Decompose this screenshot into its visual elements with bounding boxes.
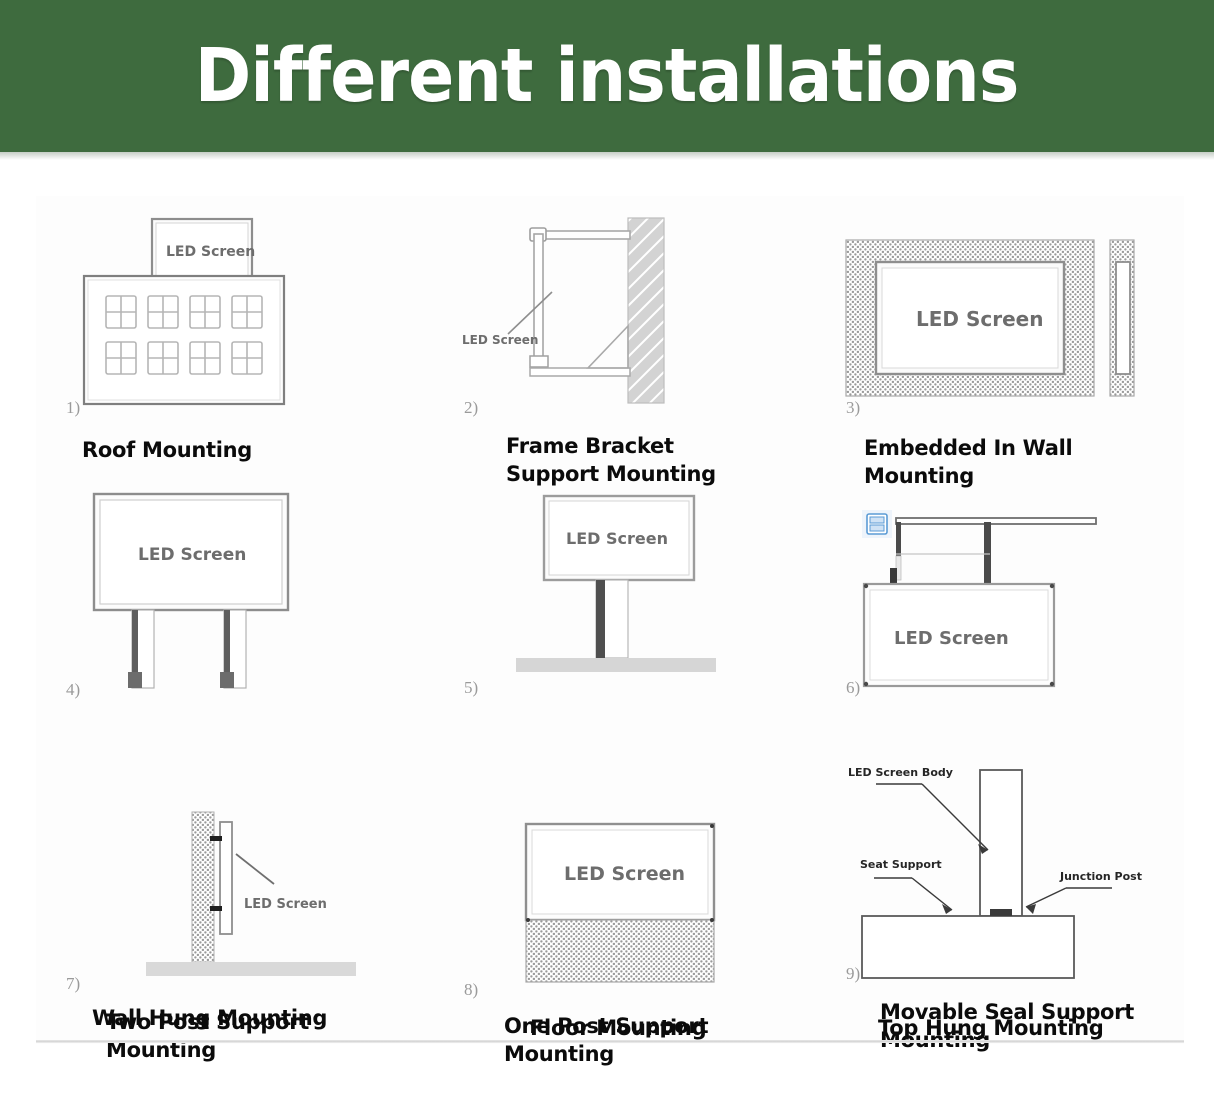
figure-number-2: 2) — [464, 398, 478, 418]
frame-bracket-figure: LED Screen — [496, 216, 726, 416]
led-screen-label: LED Screen — [166, 244, 255, 260]
caption-frame-bracket: Frame Bracket Support Mounting — [506, 432, 836, 489]
led-screen-label: LED Screen — [138, 545, 246, 565]
led-screen-label: LED Screen — [916, 307, 1043, 331]
led-screen-body-post — [980, 770, 1022, 916]
movable-seal-support-icon: LED Screen Body Seat Support Junction Po… — [844, 754, 1174, 984]
broken-image-placeholder-icon — [862, 510, 892, 538]
figure-number-4: 4) — [66, 680, 80, 700]
diagram-cell-two-post: LED Screen 4) Two Post Support Mounting — [36, 482, 426, 782]
bracket-upper — [210, 836, 222, 841]
wall-hung-figure: LED Screen — [124, 806, 394, 996]
figure-number-6: 6) — [846, 678, 860, 698]
led-screen-label: LED Screen — [566, 529, 668, 548]
support-post-right — [220, 610, 246, 688]
annotation-led-screen-body: LED Screen Body — [848, 766, 953, 779]
diagram-cell-movable-seal: LED Screen Body Seat Support Junction Po… — [816, 746, 1184, 1066]
diagram-cell-embedded-wall: LED Screen 3) Embedded In Wall Mounting — [816, 196, 1184, 496]
annotation-seat-support: Seat Support — [860, 858, 942, 871]
leader-line — [508, 292, 552, 334]
wall-hung-screen-icon: LED Screen — [124, 806, 394, 996]
floor-base — [526, 920, 714, 982]
diagram-cell-wall-hung: LED Screen 7) Wall Hung Mounting — [36, 802, 426, 1062]
figure-number-3: 3) — [846, 398, 860, 418]
two-post-figure: LED Screen — [88, 490, 338, 690]
junction-detail — [990, 909, 1012, 916]
diagram-cell-roof-mounting: LED Screen 1) Roof Mounting — [36, 196, 426, 496]
bracket-lower — [210, 906, 222, 911]
figure-number-9: 9) — [846, 964, 860, 984]
embedded-wall-figure: LED Screen — [844, 238, 1154, 398]
led-screen-label: LED Screen — [462, 333, 538, 347]
building-with-rooftop-screen-icon: LED Screen — [66, 216, 326, 416]
header-shadow-divider — [0, 152, 1214, 160]
caption-roof-mounting: Roof Mounting — [82, 436, 412, 464]
wall-dotted-column — [192, 812, 214, 962]
movable-seal-figure: LED Screen Body Seat Support Junction Po… — [844, 754, 1174, 984]
leader-line — [236, 854, 274, 884]
led-screen-label: LED Screen — [244, 897, 327, 912]
diagram-cell-top-hung: LED Screen 6) Top Hung Mounting — [816, 482, 1184, 782]
two-post-billboard-icon: LED Screen — [88, 490, 338, 690]
support-post-center — [596, 580, 628, 658]
support-post-left — [128, 610, 154, 688]
page-header: Different installations — [0, 0, 1214, 152]
caption-floor-mounting: Floor Mounting — [530, 1014, 860, 1042]
annotation-junction-post: Junction Post — [1059, 870, 1142, 883]
floor-mounting-figure: LED Screen — [520, 820, 750, 990]
wall-frame-bracket-icon: LED Screen — [496, 216, 726, 416]
diagram-cell-one-post: LED Screen 5) One Post Support Mounting — [426, 482, 816, 782]
hanger-left-upper — [896, 522, 901, 556]
figure-number-8: 8) — [464, 980, 478, 1000]
roof-mounting-figure: LED Screen — [66, 216, 326, 416]
diagram-cell-frame-bracket: LED Screen 2) Frame Bracket Support Moun… — [426, 196, 816, 496]
ground-slab — [516, 658, 716, 672]
caption-movable-seal: Movable Seal Support Mounting — [880, 998, 1214, 1055]
hanger-right — [984, 522, 991, 584]
diagram-cell-floor-mounting: LED Screen 8) Floor Mounting — [426, 802, 816, 1062]
seat-support-block — [862, 916, 1074, 978]
figure-number-1: 1) — [66, 398, 80, 418]
bottom-divider — [36, 1040, 1184, 1043]
led-screen-label: LED Screen — [564, 863, 685, 885]
diagram-panel: LED Screen 1) Roof Mounting — [36, 196, 1184, 1044]
figure-number-7: 7) — [66, 974, 80, 994]
figure-number-5: 5) — [464, 678, 478, 698]
floor-mounted-screen-icon: LED Screen — [520, 820, 750, 990]
one-post-billboard-icon: LED Screen — [516, 494, 766, 684]
page-title: Different installations — [195, 33, 1019, 119]
caption-wall-hung: Wall Hung Mounting — [92, 1004, 422, 1032]
one-post-figure: LED Screen — [516, 494, 766, 684]
led-screen-label: LED Screen — [894, 628, 1009, 649]
ceiling-beam — [896, 518, 1096, 524]
wall-hatch — [628, 218, 664, 403]
ground-slab — [146, 962, 356, 976]
embedded-wall-screen-icon: LED Screen — [844, 238, 1154, 398]
